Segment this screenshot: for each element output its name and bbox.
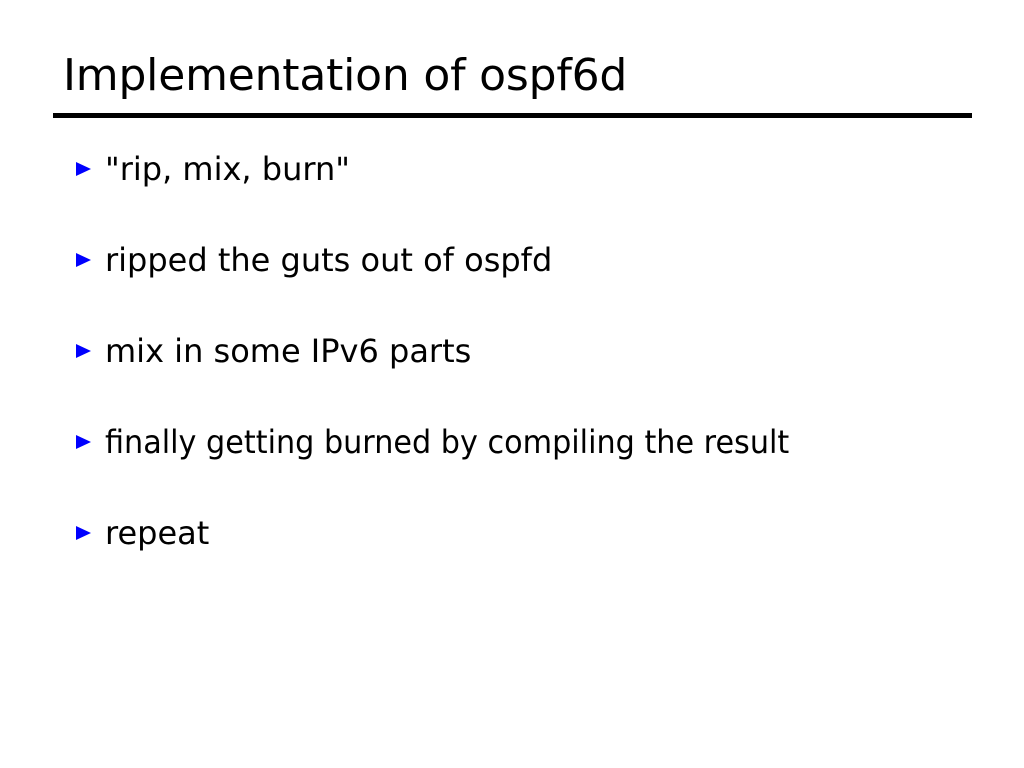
list-item: ripped the guts out of ospfd bbox=[75, 243, 975, 334]
triangle-right-icon bbox=[75, 242, 105, 268]
slide-title-block: Implementation of ospf6d bbox=[53, 48, 972, 118]
list-item-label: "rip, mix, burn" bbox=[105, 152, 975, 186]
presentation-slide: Implementation of ospf6d "rip, mix, burn… bbox=[0, 0, 1024, 768]
list-item: finally getting burned by compiling the … bbox=[75, 425, 975, 516]
triangle-right-icon bbox=[75, 515, 105, 541]
list-item-label: mix in some IPv6 parts bbox=[105, 334, 975, 368]
list-item: "rip, mix, burn" bbox=[75, 152, 975, 243]
title-underline-rule bbox=[53, 113, 972, 118]
list-item-label: repeat bbox=[105, 516, 975, 550]
triangle-right-icon bbox=[75, 151, 105, 177]
triangle-right-icon bbox=[75, 424, 105, 450]
list-item-label: ripped the guts out of ospfd bbox=[105, 243, 975, 277]
bullet-list: "rip, mix, burn" ripped the guts out of … bbox=[75, 152, 975, 607]
list-item: mix in some IPv6 parts bbox=[75, 334, 975, 425]
list-item-label: finally getting burned by compiling the … bbox=[105, 425, 927, 459]
page-title: Implementation of ospf6d bbox=[53, 48, 972, 104]
list-item: repeat bbox=[75, 516, 975, 607]
triangle-right-icon bbox=[75, 333, 105, 359]
